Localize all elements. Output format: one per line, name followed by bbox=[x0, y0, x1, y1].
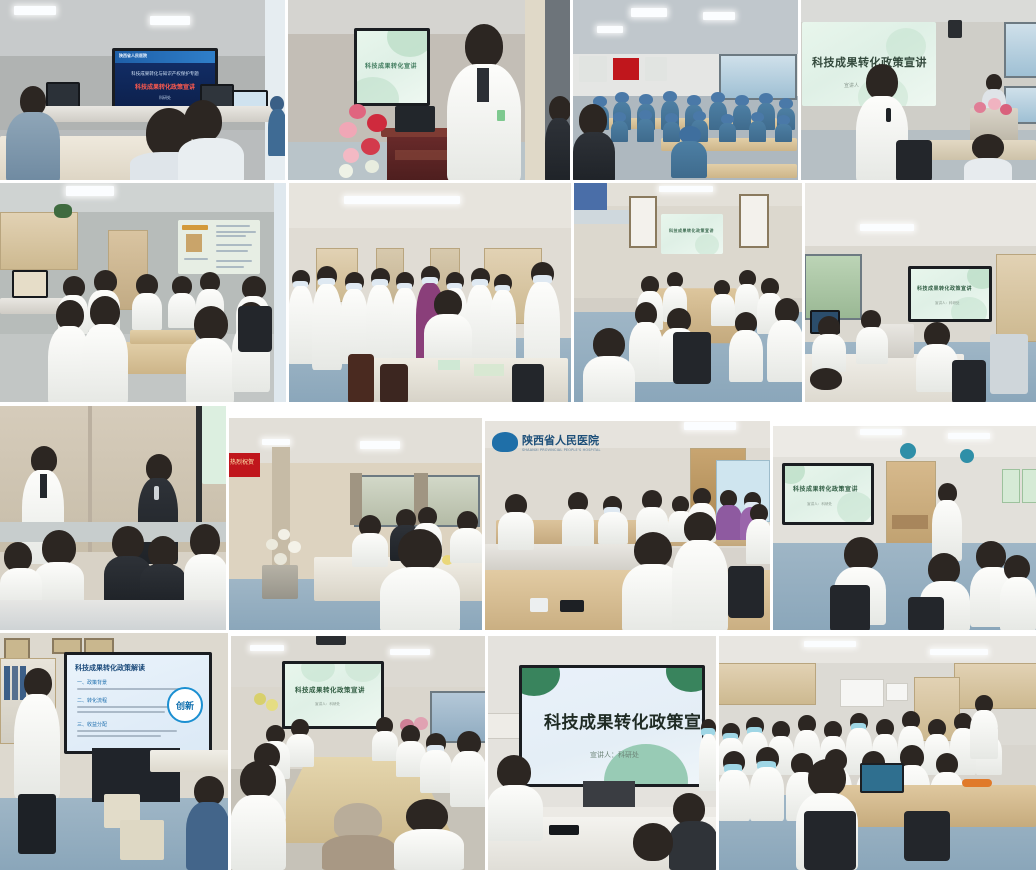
person-foreground-right bbox=[186, 776, 230, 870]
foreground-bar bbox=[0, 600, 228, 632]
person-foreground bbox=[804, 368, 852, 404]
slide-bullet-2: 二、转化流程 bbox=[77, 697, 107, 704]
person-seated-foreground bbox=[964, 134, 1012, 182]
seam-vertical bbox=[571, 183, 574, 403]
hospital-logo-wall: 陕西省人民医院 SHAANXI PROVINCIAL PEOPLE'S HOSP… bbox=[492, 432, 601, 452]
ceiling-light bbox=[930, 649, 988, 655]
ceiling bbox=[804, 182, 1036, 254]
projection-edge bbox=[202, 404, 228, 484]
person-bench-mid bbox=[856, 310, 888, 364]
wall-poster bbox=[645, 57, 667, 81]
scene bbox=[0, 404, 228, 632]
photo-projection-classroom[interactable]: 科技成果转化政策宣讲 宣讲人 bbox=[800, 0, 1036, 182]
right-column bbox=[525, 0, 545, 182]
ceiling-light bbox=[390, 649, 430, 655]
innovation-badge: 创新 bbox=[167, 687, 203, 723]
slide: 科技成果转化政策宣讲 宣讲人：科研处 bbox=[285, 664, 381, 726]
slide-bullet-3: 三、收益分配 bbox=[77, 721, 107, 728]
chair bbox=[904, 811, 950, 861]
seam-corner bbox=[484, 404, 772, 421]
slide-hospital-logo: 陕西省人民医院 bbox=[119, 53, 147, 59]
slide-subtitle: 宣讲人：科研处 bbox=[315, 702, 340, 707]
photo-lounge-meeting-banner[interactable]: 热烈祝贺 bbox=[228, 417, 484, 632]
laptop bbox=[395, 106, 435, 132]
hospital-name: 陕西省人民医院 bbox=[522, 432, 601, 448]
person-seated-center bbox=[424, 290, 472, 362]
person-bench-left bbox=[812, 316, 846, 372]
ceiling-light bbox=[66, 186, 114, 196]
seam-vertical bbox=[285, 0, 288, 182]
chair bbox=[673, 332, 711, 384]
photo-collage: 陕西省人民医院 科技成果转化与知识产权保护专题 科技成果转化政策宣讲 科研处 bbox=[0, 0, 1036, 870]
chair bbox=[896, 140, 932, 182]
seam-vertical bbox=[798, 0, 801, 182]
ceiling-light bbox=[631, 8, 667, 17]
photo-podium-speaker[interactable]: 科技成果转化宣讲 bbox=[287, 0, 573, 182]
red-banner: 热烈祝贺 bbox=[228, 453, 260, 477]
slide-title: 科技成果转化政策宣讲 bbox=[917, 285, 972, 292]
slide: 科技成果转化宣讲 bbox=[357, 31, 427, 103]
scene: 科技成果转化政策宣讲 宣讲人：科研处 bbox=[772, 425, 1036, 632]
seated-staff bbox=[629, 262, 804, 382]
photo-auditorium-two-speakers[interactable] bbox=[0, 404, 228, 632]
projection-screen: 科技成果转化政策宣讲 bbox=[661, 214, 723, 254]
chair bbox=[908, 597, 944, 632]
chair bbox=[380, 364, 408, 404]
wall-display[interactable]: 科技成果转化宣讲 bbox=[354, 28, 430, 106]
seam-vertical bbox=[716, 633, 719, 870]
slide: 科技成果转化政策宣讲 bbox=[661, 214, 723, 254]
scene bbox=[573, 0, 800, 182]
seam-vertical bbox=[226, 405, 229, 631]
photo-whiteboard-lecture-innovation[interactable]: 科技成果转化政策解读 一、政策背景 二、转化流程 三、收益分配 创新 bbox=[0, 632, 230, 870]
ceiling-light bbox=[684, 422, 736, 430]
plant bbox=[252, 691, 280, 721]
person-foreground-dark bbox=[573, 104, 615, 182]
wall-tv[interactable]: 科技成果转化政策宣讲 宣讲人：科研处 bbox=[519, 665, 705, 787]
slide-title: 科技成果转化政策解读 bbox=[75, 663, 145, 673]
photo-office-projection-meeting[interactable] bbox=[0, 182, 288, 404]
scene: 热烈祝贺 bbox=[228, 417, 484, 632]
seam-corner bbox=[228, 404, 484, 418]
seam-corner bbox=[0, 404, 228, 406]
photo-corridor-tv-presentation[interactable]: 科技成果转化政策宣讲 宣讲人：科研处 bbox=[772, 425, 1036, 632]
slide: 科技成果转化政策宣讲 宣讲人：科研处 bbox=[785, 466, 871, 522]
calligraphy-frame bbox=[739, 194, 769, 248]
photo-large-lecture-hall-scrubs[interactable] bbox=[573, 0, 800, 182]
slide-subtitle: 宣讲人：科研处 bbox=[807, 502, 832, 507]
scene: 科技成果转化政策解读 一、政策背景 二、转化流程 三、收益分配 创新 bbox=[0, 632, 230, 870]
person-foreground-hat bbox=[322, 803, 396, 870]
flower-arrangement bbox=[972, 98, 1016, 120]
ceiling bbox=[288, 182, 573, 232]
lecturer-standing bbox=[14, 668, 60, 854]
chair bbox=[512, 364, 544, 404]
person-foreground-right bbox=[178, 100, 244, 182]
seam-corner bbox=[0, 630, 230, 633]
photo-standing-group-masks[interactable] bbox=[288, 182, 573, 404]
seam-vertical bbox=[228, 633, 231, 870]
ceiling-light bbox=[597, 26, 623, 33]
photo-lab-monitor-presentation[interactable]: 科技成果转化政策宣讲 宣讲人：科研处 bbox=[804, 182, 1036, 404]
ceiling-light bbox=[262, 439, 290, 445]
scene bbox=[288, 182, 573, 404]
window bbox=[1004, 22, 1036, 78]
person-foreground-right bbox=[394, 799, 464, 870]
person-seated-left bbox=[6, 86, 60, 182]
seam-corner bbox=[487, 630, 718, 636]
person-far-right bbox=[746, 504, 772, 564]
ceiling-light bbox=[948, 433, 990, 439]
photo-radiology-reading-room[interactable]: 陕西省人民医院 科技成果转化与知识产权保护专题 科技成果转化政策宣讲 科研处 bbox=[0, 0, 287, 182]
ceiling bbox=[0, 182, 288, 216]
seam-corner bbox=[772, 404, 1036, 426]
scene: 科技成果转化政策宣讲 bbox=[573, 182, 804, 404]
photo-long-table-projection[interactable]: 科技成果转化政策宣讲 宣讲人：科研处 bbox=[230, 635, 487, 870]
flower-arrangement bbox=[264, 529, 308, 573]
red-wall-banner bbox=[613, 58, 639, 80]
slide-subtitle: 宣讲人：科研处 bbox=[935, 301, 960, 306]
banner-text: 热烈祝贺 bbox=[230, 457, 254, 466]
slide-subtitle: 宣讲人：科研处 bbox=[590, 750, 639, 760]
door bbox=[996, 254, 1036, 342]
seam-vertical bbox=[485, 633, 488, 870]
person-writing-front bbox=[671, 126, 707, 178]
scene: 陕西省人民医院 SHAANXI PROVINCIAL PEOPLE'S HOSP… bbox=[484, 420, 772, 632]
chair bbox=[238, 306, 272, 352]
slide-title: 科技成果转化宣讲 bbox=[365, 61, 417, 70]
seam-corner bbox=[230, 630, 487, 636]
person-right-seated bbox=[545, 96, 573, 182]
person-foreground-back bbox=[380, 529, 460, 632]
scene: 科技成果转化政策宣讲 宣讲人：科研处 bbox=[230, 635, 487, 870]
ceiling-light bbox=[659, 186, 713, 192]
slide-title: 科技成果转化政策宣讲 bbox=[793, 484, 858, 493]
seam-vertical bbox=[570, 0, 573, 182]
side-table bbox=[150, 750, 230, 772]
photo-boardroom-hospital-logo[interactable]: 陕西省人民医院 SHAANXI PROVINCIAL PEOPLE'S HOSP… bbox=[484, 420, 772, 632]
innovation-badge-text: 创新 bbox=[176, 699, 194, 712]
photo-tv-slide-closeup[interactable]: 科技成果转化政策宣讲 宣讲人：科研处 bbox=[487, 635, 718, 870]
wall-tv[interactable]: 科技成果转化政策宣讲 宣讲人：科研处 bbox=[782, 463, 874, 525]
slide-title: 科技成果转化政策宣讲 bbox=[669, 228, 714, 234]
photo-conference-room-calligraphy[interactable]: 科技成果转化政策宣讲 bbox=[573, 182, 804, 404]
seam-vertical bbox=[802, 183, 805, 403]
wall-cabinet bbox=[718, 663, 816, 705]
hospital-name-en: SHAANXI PROVINCIAL PEOPLE'S HOSPITAL bbox=[522, 448, 601, 452]
hospital-logo-mark bbox=[492, 432, 518, 452]
seam-corner bbox=[718, 630, 1036, 636]
chair bbox=[804, 811, 856, 870]
wall-monitor[interactable]: 科技成果转化政策宣讲 宣讲人：科研处 bbox=[908, 266, 992, 322]
seam-vertical bbox=[482, 405, 485, 631]
mobile-display[interactable]: 科技成果转化政策解读 一、政策背景 二、转化流程 三、收益分配 创新 bbox=[64, 652, 212, 754]
seam-vertical bbox=[286, 183, 289, 403]
scene: 科技成果转化政策宣讲 宣讲人 bbox=[800, 0, 1036, 182]
flower-arrangement bbox=[335, 100, 397, 182]
chair bbox=[952, 360, 986, 404]
slide-topic: 科技成果转化与知识产权保护专题 bbox=[115, 71, 215, 77]
ceiling-light bbox=[150, 16, 190, 25]
ceiling-light bbox=[860, 224, 914, 231]
speaker-at-podium bbox=[447, 24, 521, 182]
person-foreground-left bbox=[583, 328, 635, 404]
person-seated-left bbox=[487, 755, 543, 841]
slide: 科技成果转化政策解读 一、政策背景 二、转化流程 三、收益分配 创新 bbox=[67, 655, 209, 751]
laptop bbox=[860, 763, 904, 793]
seam-vertical bbox=[770, 405, 773, 631]
ceiling-light bbox=[344, 196, 460, 204]
scene: 陕西省人民医院 科技成果转化与知识产权保护专题 科技成果转化政策宣讲 科研处 bbox=[0, 0, 287, 182]
scene: 科技成果转化宣讲 bbox=[287, 0, 573, 182]
calligraphy-frame bbox=[629, 196, 657, 248]
person-far-right-standing bbox=[970, 695, 998, 759]
slide-title: 科技成果转化政策宣讲 bbox=[544, 708, 705, 733]
wall-plaque bbox=[4, 638, 30, 660]
ceiling-light bbox=[250, 645, 284, 651]
slide-title: 科技成果转化政策宣讲 bbox=[295, 684, 365, 694]
ceiling-light bbox=[860, 429, 902, 435]
ceiling-light bbox=[360, 441, 400, 449]
scene bbox=[0, 182, 288, 404]
ceiling-light bbox=[804, 641, 856, 647]
chair bbox=[728, 566, 764, 618]
photo-packed-staff-room[interactable] bbox=[718, 635, 1036, 870]
person-foreground-right bbox=[672, 512, 728, 632]
slide-bullet-1: 一、政策背景 bbox=[77, 679, 107, 686]
ceiling-light bbox=[703, 12, 735, 20]
seam-horizontal bbox=[0, 180, 1036, 183]
ceiling-light bbox=[14, 6, 56, 15]
scene: 科技成果转化政策宣讲 宣讲人：科研处 bbox=[487, 635, 718, 870]
chair bbox=[830, 585, 870, 632]
chair bbox=[348, 354, 374, 404]
slide: 科技成果转化政策宣讲 宣讲人：科研处 bbox=[911, 269, 989, 319]
scene bbox=[718, 635, 1036, 870]
slide: 科技成果转化政策宣讲 宣讲人：科研处 bbox=[522, 668, 702, 784]
wall-poster bbox=[579, 56, 607, 82]
person-foreground-center bbox=[623, 823, 685, 870]
scene: 科技成果转化政策宣讲 宣讲人：科研处 bbox=[804, 182, 1036, 404]
